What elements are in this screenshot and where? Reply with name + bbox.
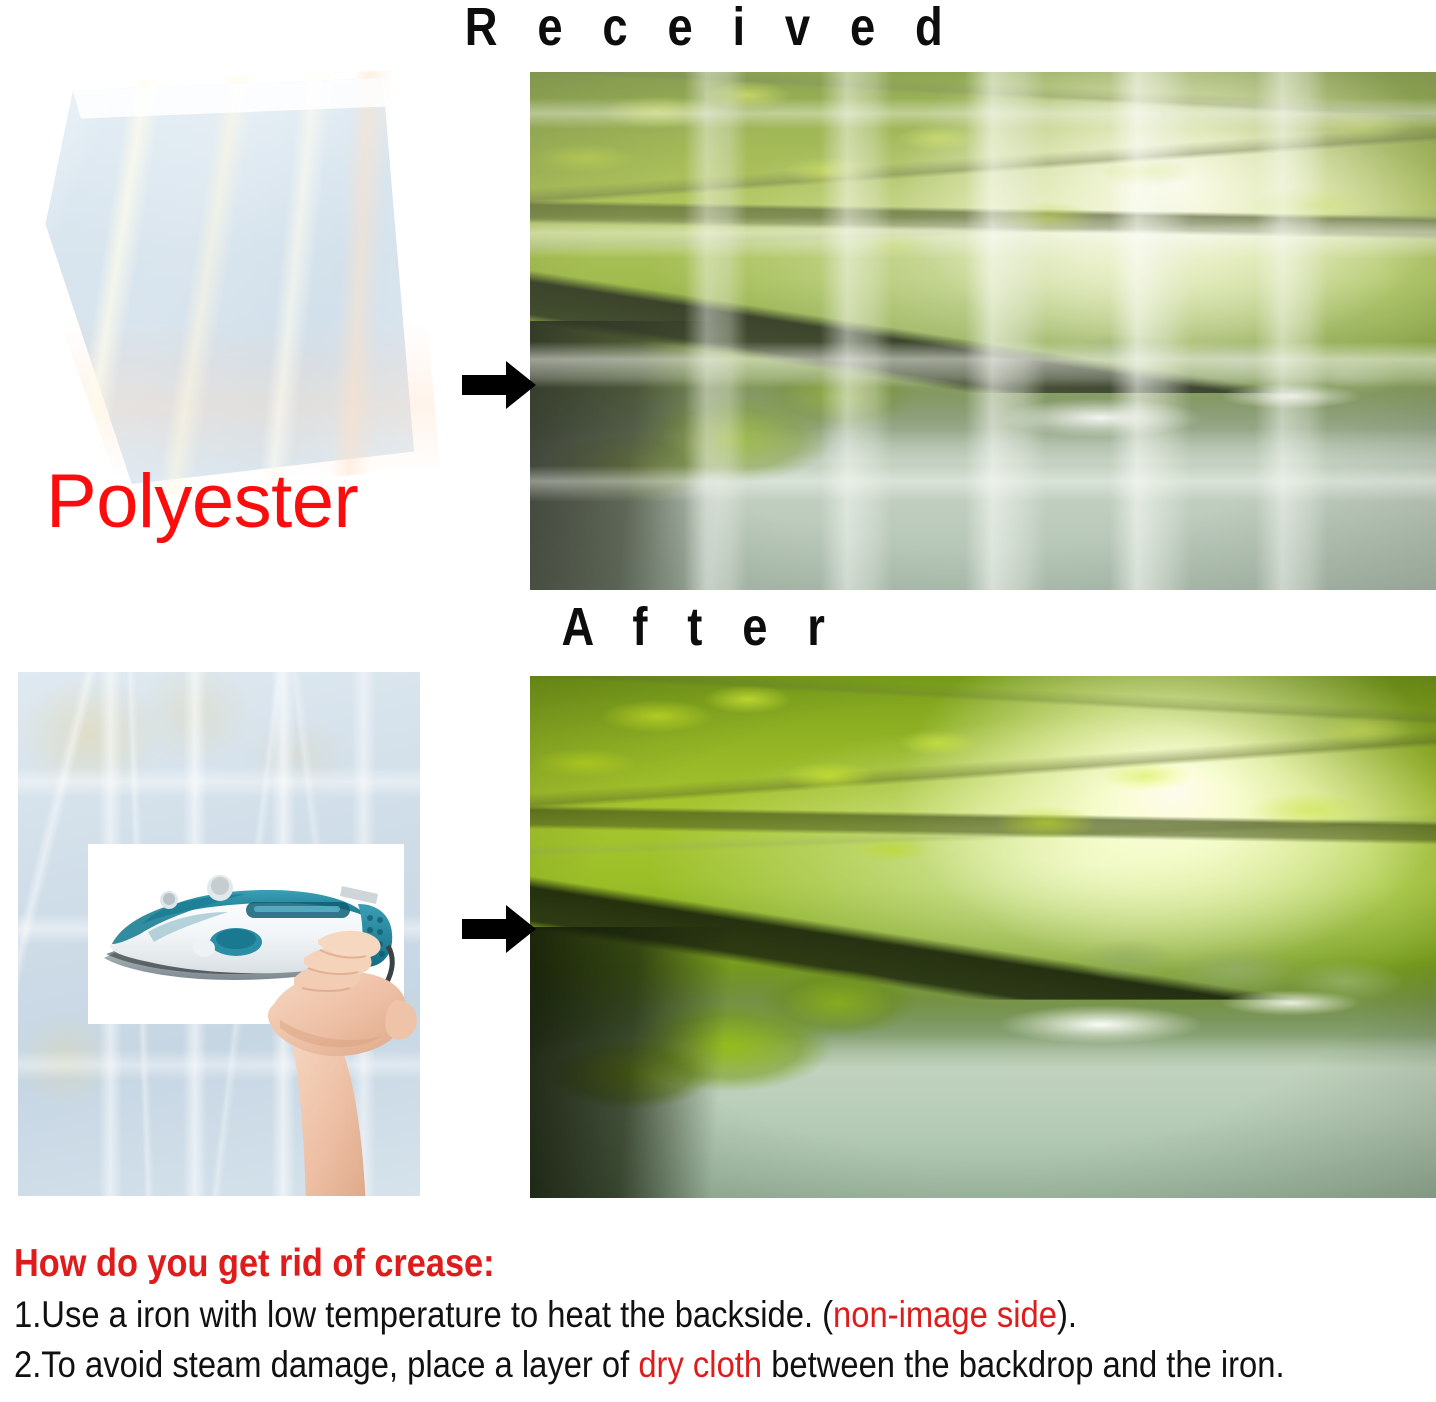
- after-heading: A f t e r: [465, 596, 935, 658]
- care-step-2-post: between the backdrop and the iron.: [762, 1344, 1284, 1385]
- care-step-2-pre: 2.To avoid steam damage, place a layer o…: [14, 1344, 638, 1385]
- care-step-1: 1.Use a iron with low temperature to hea…: [14, 1291, 1271, 1338]
- care-heading: How do you get rid of crease:: [14, 1240, 1264, 1288]
- infographic-page: R e c e i v e d Polyester A f t e r: [0, 0, 1436, 1402]
- received-backdrop-photo: [530, 72, 1436, 590]
- care-step-1-highlight: non-image side: [833, 1294, 1057, 1335]
- care-step-1-post: ).: [1057, 1294, 1077, 1335]
- vignette-smooth: [530, 676, 1436, 1198]
- folded-sheet-creases: [0, 70, 440, 500]
- ironing-demo-image: [18, 672, 420, 1196]
- care-step-1-pre: 1.Use a iron with low temperature to hea…: [14, 1294, 833, 1335]
- after-backdrop-photo: [530, 676, 1436, 1198]
- care-instructions: How do you get rid of crease: 1.Use a ir…: [14, 1240, 1434, 1388]
- folded-sheet-image: [0, 70, 440, 500]
- forest-artwork-smooth: [530, 676, 1436, 1198]
- material-label: Polyester: [46, 462, 358, 542]
- care-step-2-highlight: dry cloth: [638, 1344, 762, 1385]
- forest-artwork: [530, 72, 1436, 590]
- right-arrow-icon: [462, 358, 536, 412]
- received-heading: R e c e i v e d: [465, 0, 935, 58]
- hand-icon: [246, 908, 420, 1196]
- right-arrow-icon-2: [462, 902, 536, 956]
- vignette: [530, 72, 1436, 590]
- care-step-2: 2.To avoid steam damage, place a layer o…: [14, 1341, 1271, 1388]
